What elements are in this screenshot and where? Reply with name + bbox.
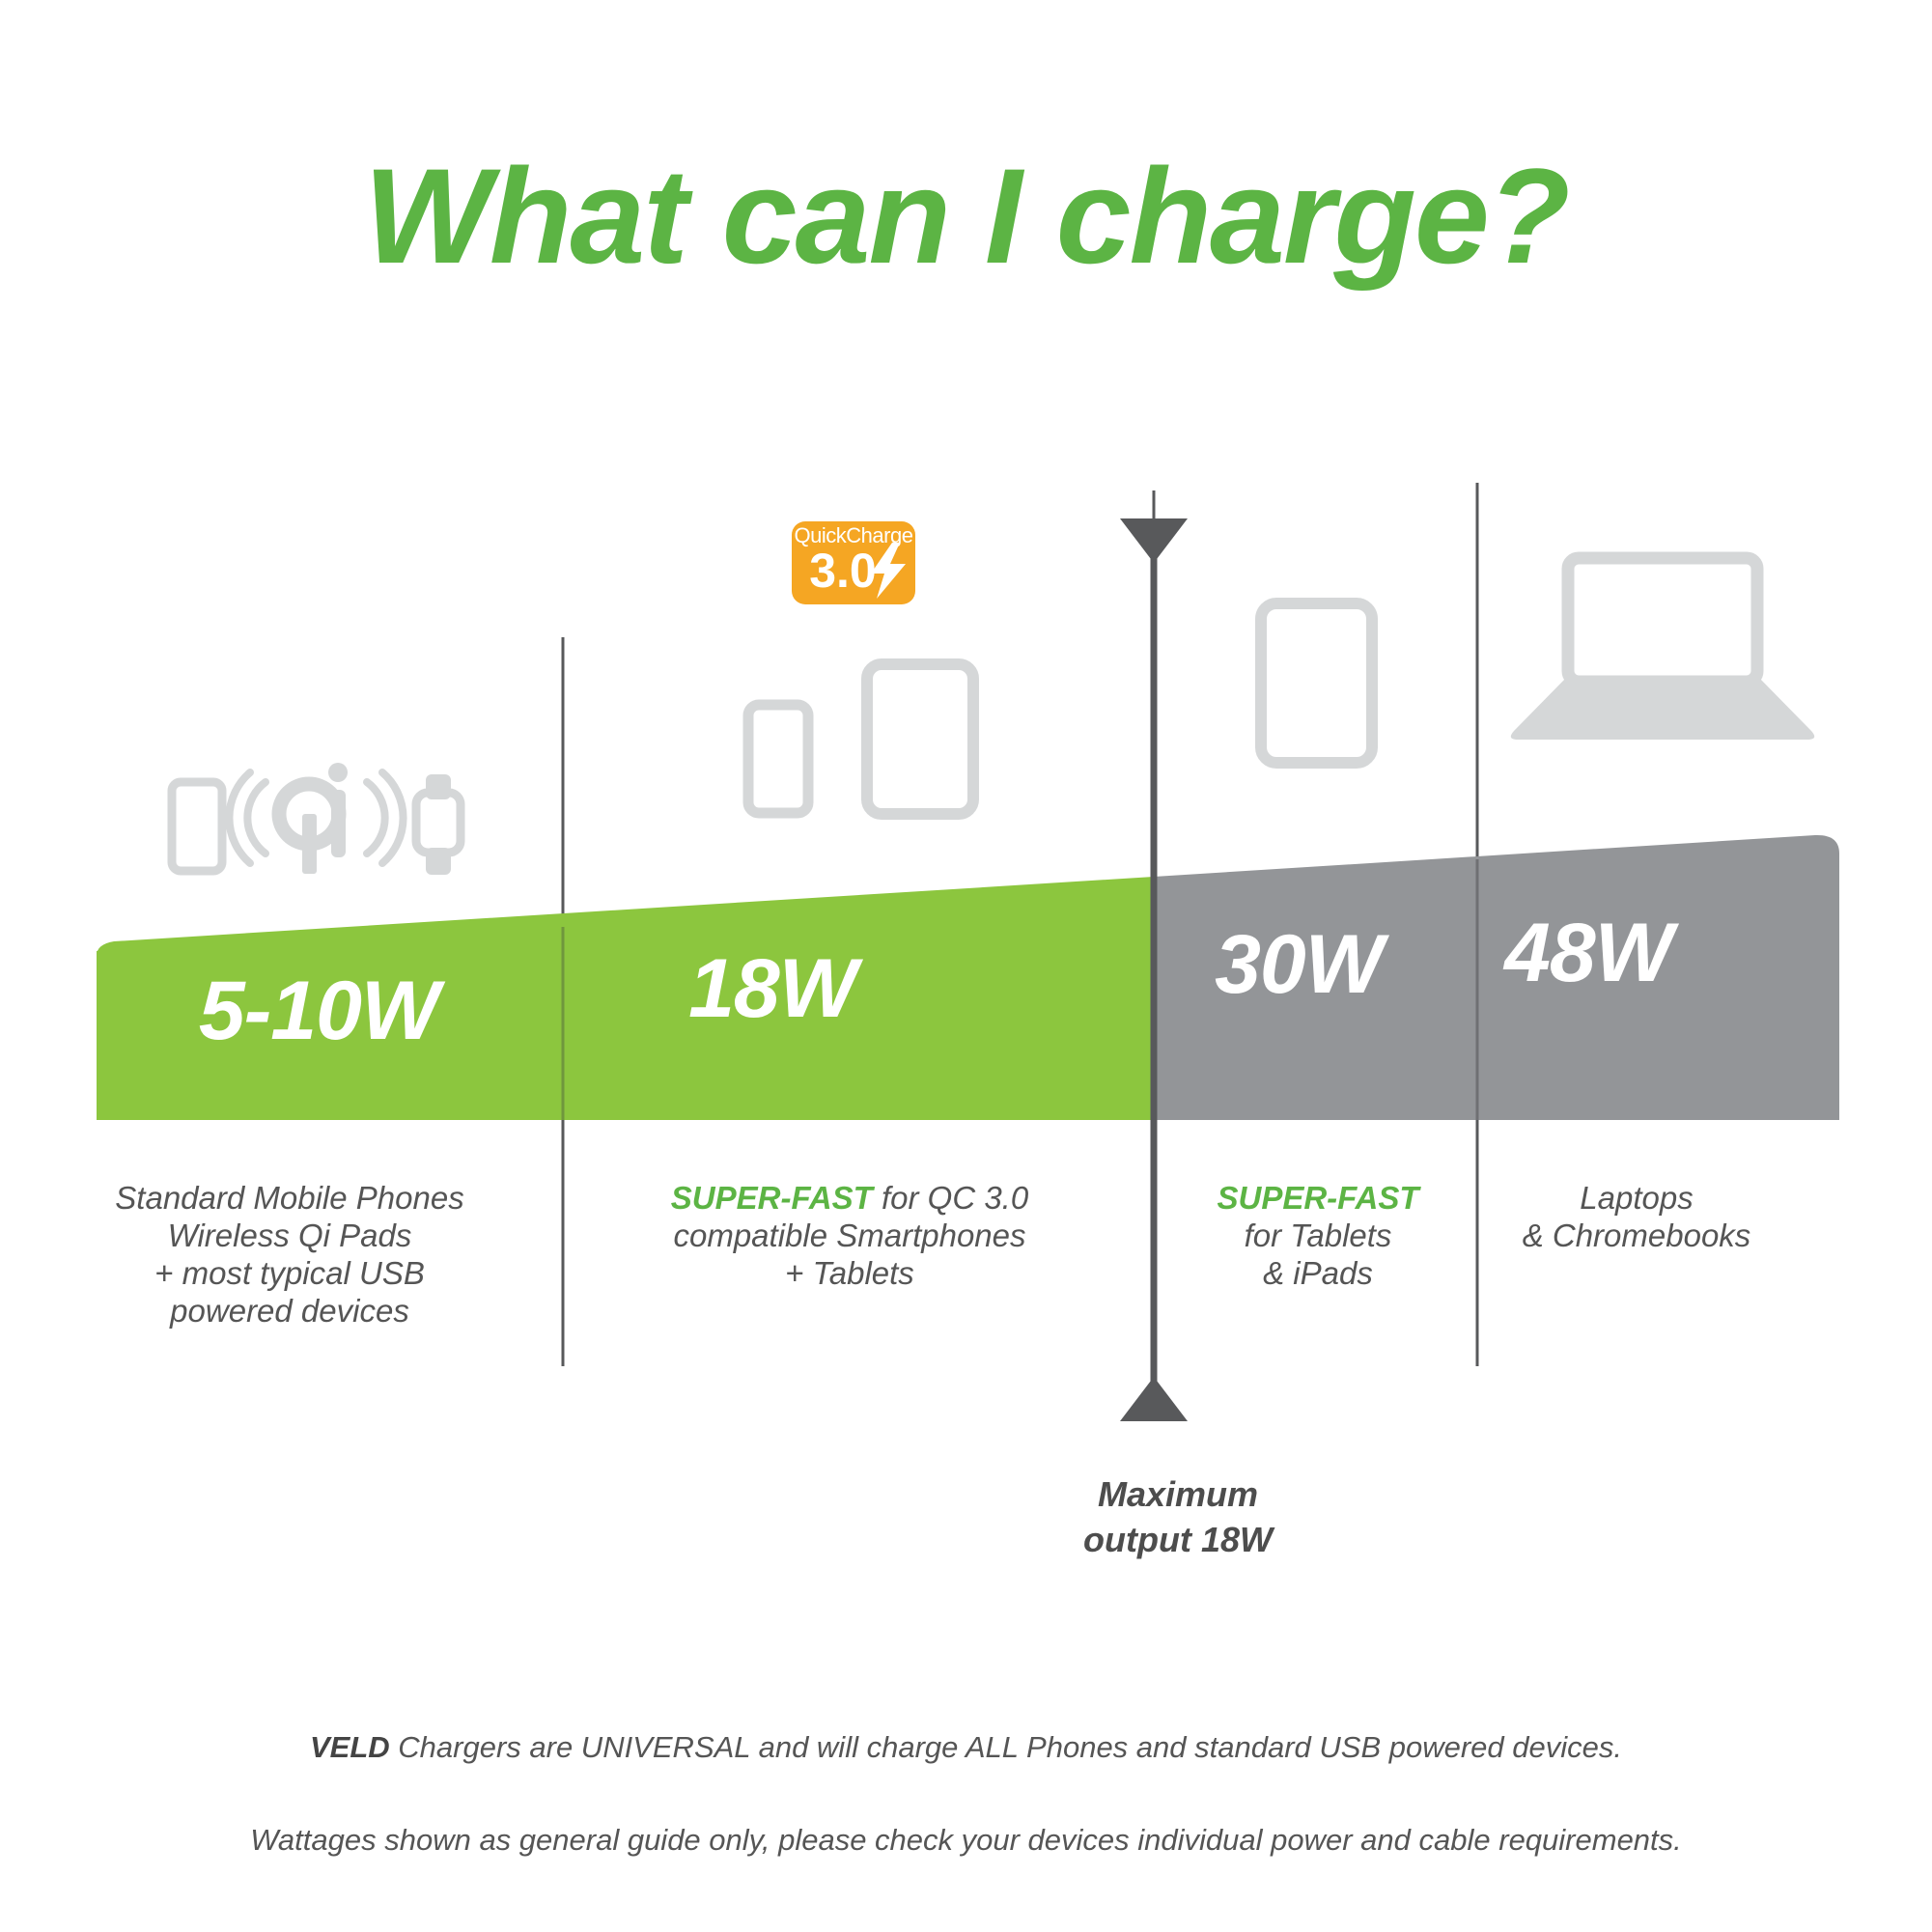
caption-line: powered devices (87, 1293, 492, 1330)
watt-label-4: 48W (1448, 906, 1728, 1001)
caption-line: + most typical USB (87, 1255, 492, 1293)
superfast-highlight: SUPER-FAST (1173, 1180, 1463, 1218)
caption-line: Standard Mobile Phones (87, 1180, 492, 1218)
caption-line-text: for QC 3.0 (873, 1180, 1028, 1216)
caption-line: SUPER-FAST for QC 3.0 (637, 1180, 1062, 1218)
brand-name: VELD (310, 1730, 390, 1764)
caption-line: compatible Smartphones (637, 1218, 1062, 1255)
caption-line: & iPads (1173, 1255, 1463, 1293)
caption-line: for Tablets (1173, 1218, 1463, 1255)
smartwatch-icon (416, 774, 461, 875)
watt-label-3: 30W (1159, 917, 1439, 1013)
max-output-top-arrow (1120, 518, 1188, 563)
column-caption-2: SUPER-FAST for QC 3.0 compatible Smartph… (637, 1180, 1062, 1293)
caption-line: & Chromebooks (1477, 1218, 1796, 1255)
caption-line: Laptops (1477, 1180, 1796, 1218)
watt-label-2: 18W (570, 941, 975, 1037)
max-output-bottom-arrow (1120, 1377, 1188, 1421)
phone-icon (172, 782, 222, 871)
max-output-line-2: output 18W (994, 1518, 1361, 1563)
infographic-canvas: What can I charge? (0, 0, 1932, 1932)
footer-line-2: Wattages shown as general guide only, pl… (0, 1823, 1932, 1858)
watt-label-1: 5-10W (116, 964, 521, 1059)
max-output-label: Maximum output 18W (994, 1472, 1361, 1563)
superfast-highlight: SUPER-FAST (671, 1180, 873, 1216)
tablet-icon (867, 664, 973, 814)
column-caption-4: Laptops & Chromebooks (1477, 1180, 1796, 1255)
laptop-icon (1511, 558, 1814, 740)
phone-icon (748, 705, 808, 813)
lightning-bolt-icon (867, 543, 910, 599)
tablet-icon (1261, 603, 1372, 763)
caption-line: Wireless Qi Pads (87, 1218, 492, 1255)
qi-wireless-icon (229, 763, 403, 874)
column-caption-1: Standard Mobile Phones Wireless Qi Pads … (87, 1180, 492, 1330)
footer-line-1-text: Chargers are UNIVERSAL and will charge A… (390, 1730, 1622, 1764)
column-caption-3: SUPER-FAST for Tablets & iPads (1173, 1180, 1463, 1293)
max-output-line-1: Maximum (994, 1472, 1361, 1518)
footer-line-1: VELD Chargers are UNIVERSAL and will cha… (0, 1730, 1932, 1765)
caption-line: + Tablets (637, 1255, 1062, 1293)
